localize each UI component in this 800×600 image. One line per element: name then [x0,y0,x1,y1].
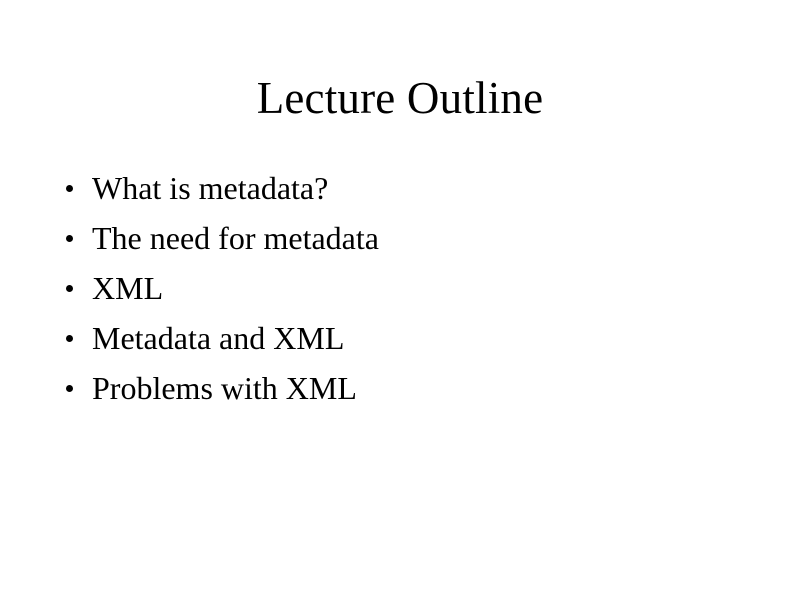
bullet-dot-icon [66,185,73,192]
list-item: What is metadata? [60,163,760,213]
bullet-dot-icon [66,385,73,392]
bullet-dot-icon [66,335,73,342]
bullet-dot-icon [66,235,73,242]
list-item: XML [60,263,760,313]
list-item-label: Problems with XML [92,363,357,413]
bullet-dot-icon [66,285,73,292]
list-item: The need for metadata [60,213,760,263]
list-item-label: XML [92,263,163,313]
list-item: Problems with XML [60,363,760,413]
list-item-label: What is metadata? [92,163,328,213]
presentation-slide: Lecture Outline What is metadata? The ne… [0,0,800,600]
outline-bullet-list: What is metadata? The need for metadata … [60,163,760,413]
page-title: Lecture Outline [0,72,800,124]
list-item: Metadata and XML [60,313,760,363]
list-item-label: Metadata and XML [92,313,344,363]
list-item-label: The need for metadata [92,213,379,263]
